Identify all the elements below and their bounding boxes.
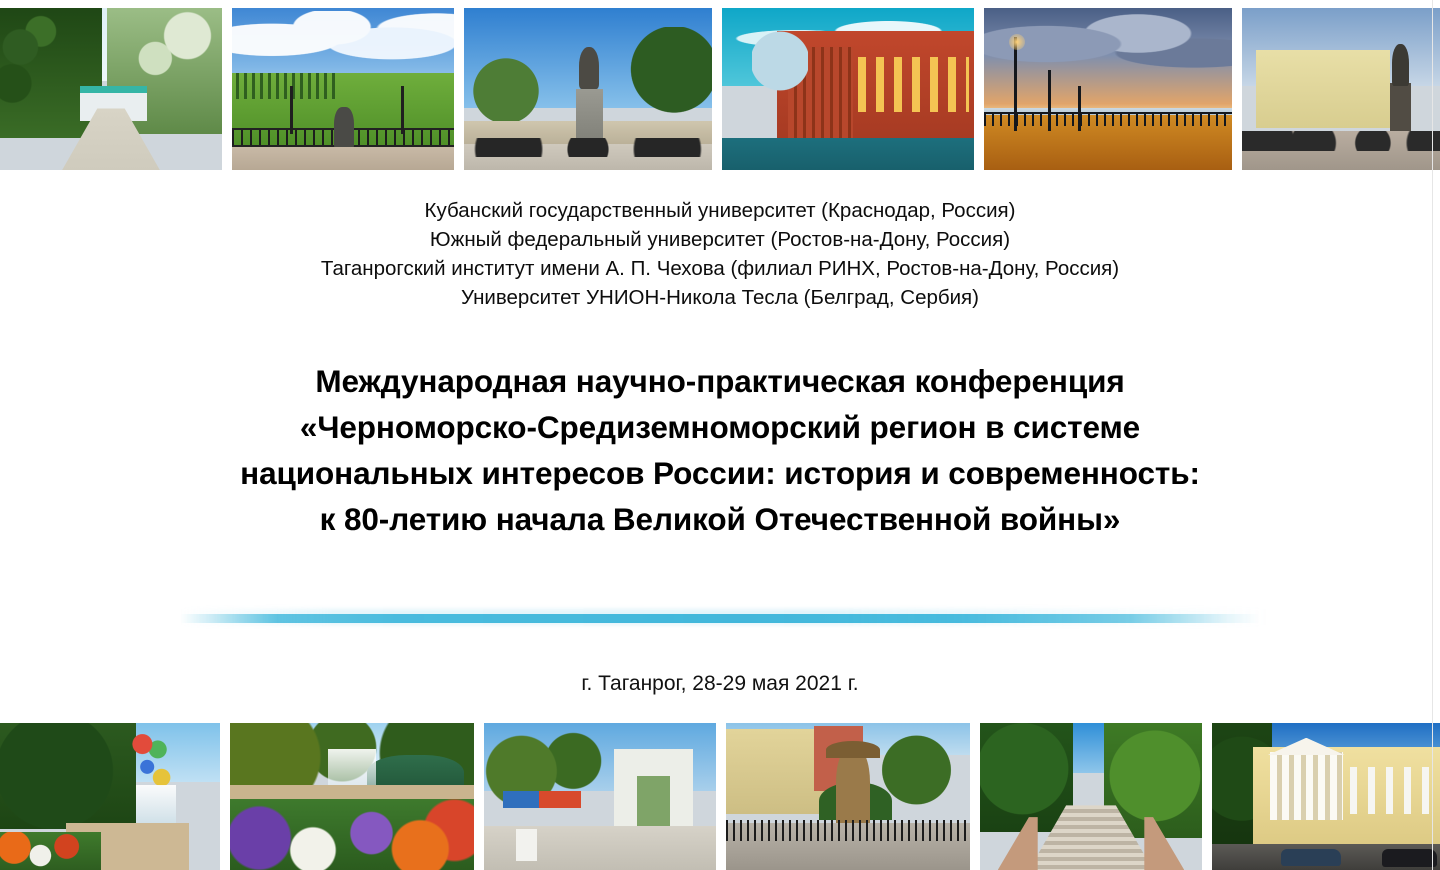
place-and-date: г. Таганрог, 28-29 мая 2021 г. — [0, 672, 1440, 696]
bottom-photo-strip — [0, 723, 1440, 870]
title-line-2: «Черноморско-Средиземноморский регион в … — [240, 404, 1200, 450]
top-photo-strip — [0, 8, 1440, 170]
conference-poster: Кубанский государственный университет (К… — [0, 0, 1440, 870]
photo-city-park-fountain — [0, 723, 220, 870]
organizer-line-4: Университет УНИОН-Никола Тесла (Белград,… — [321, 283, 1119, 312]
photo-park-entrance-arch — [484, 723, 716, 870]
organizers-block: Кубанский государственный университет (К… — [321, 196, 1119, 312]
photo-alexander-statue-theatre — [1242, 8, 1440, 170]
photo-stone-staircase — [980, 723, 1202, 870]
organizer-line-3: Таганрогский институт имени А. П. Чехова… — [321, 254, 1119, 283]
photo-red-brick-university — [722, 8, 974, 170]
poster-content: Кубанский государственный университет (К… — [0, 172, 1440, 723]
title-line-4: к 80-летию начала Великой Отечественной … — [240, 496, 1200, 542]
photo-yellow-neoclassical-building — [1212, 723, 1440, 870]
right-edge-rule — [1432, 0, 1433, 870]
divider-bar — [180, 614, 1260, 623]
title-line-1: Международная научно-практическая конфер… — [240, 358, 1200, 404]
photo-chekhov-garden-cottage — [0, 8, 222, 170]
photo-chekhov-bench-monument — [232, 8, 454, 170]
accent-divider — [0, 607, 1440, 629]
organizer-line-1: Кубанский государственный университет (К… — [321, 196, 1119, 225]
photo-peter-the-great-monument — [464, 8, 712, 170]
photo-park-flowerbeds-bandstand — [230, 723, 474, 870]
organizer-line-2: Южный федеральный университет (Ростов-на… — [321, 225, 1119, 254]
conference-title: Международная научно-практическая конфер… — [240, 358, 1200, 542]
photo-embankment-at-dusk — [984, 8, 1232, 170]
photo-lady-with-umbrella-statue — [726, 723, 970, 870]
title-line-3: национальных интересов России: история и… — [240, 450, 1200, 496]
